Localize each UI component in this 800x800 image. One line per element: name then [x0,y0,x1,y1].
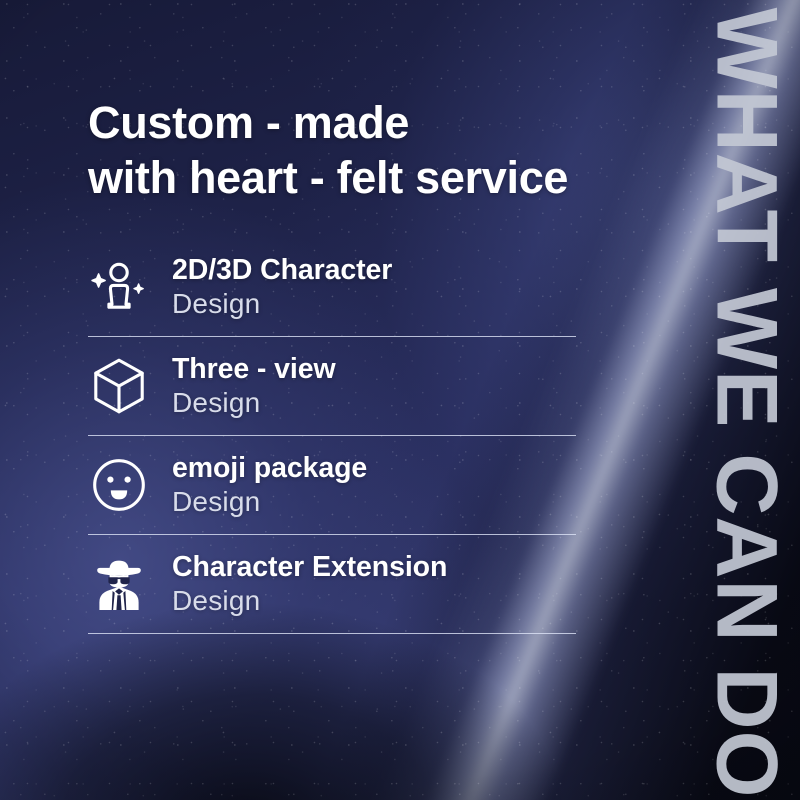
side-title-text: WHAT WE CAN DO [704,7,790,798]
list-item-subtitle: Design [172,389,336,417]
list-item-text: 2D/3D Character Design [172,256,392,318]
list-item[interactable]: 2D/3D Character Design [88,238,576,337]
list-item-subtitle: Design [172,488,367,516]
page-title: Custom - made with heart - felt service [88,96,568,206]
side-title: WHAT WE CAN DO [692,0,800,800]
services-list: 2D/3D Character Design Three - view Desi… [88,238,576,634]
list-item-text: Character Extension Design [172,553,447,615]
list-item-title: 2D/3D Character [172,256,392,285]
cube-icon [88,354,150,418]
poster-canvas: Custom - made with heart - felt service … [0,0,800,800]
list-item-title: emoji package [172,454,367,483]
list-item-subtitle: Design [172,290,392,318]
list-item[interactable]: Character Extension Design [88,535,576,634]
smiley-face-icon [88,453,150,517]
person-sparkle-icon [88,255,150,319]
list-item[interactable]: emoji package Design [88,436,576,535]
list-item-text: Three - view Design [172,355,336,417]
list-item-subtitle: Design [172,587,447,615]
list-item[interactable]: Three - view Design [88,337,576,436]
list-item-text: emoji package Design [172,454,367,516]
list-item-title: Three - view [172,355,336,384]
list-item-title: Character Extension [172,553,447,582]
detective-icon [88,552,150,616]
